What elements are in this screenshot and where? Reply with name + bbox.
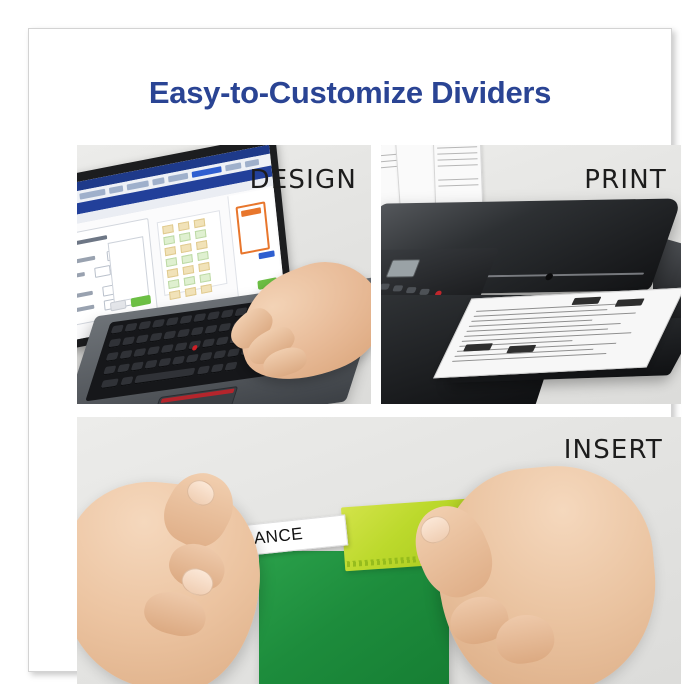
divider-grid-preview (157, 210, 228, 296)
page-title: Easy-to-Customize Dividers (29, 75, 671, 111)
panel-insert: FINANCE INSERT (77, 417, 681, 684)
dialog-cancel-button[interactable] (110, 299, 127, 311)
image-frame: Easy-to-Customize Dividers (28, 28, 672, 672)
panel-print: PRINT (381, 145, 681, 404)
selected-template-thumbnail[interactable] (235, 201, 270, 255)
printer-button[interactable] (406, 287, 417, 293)
printer-button[interactable] (381, 284, 390, 290)
panel-design: DESIGN (77, 145, 371, 404)
printer-lcd-display (386, 259, 421, 277)
printed-divider-sheet (433, 288, 681, 379)
divider-sheet-green (259, 551, 449, 684)
trackpoint-nub[interactable] (191, 345, 198, 351)
panel-label-insert: INSERT (564, 435, 663, 465)
panel-label-print: PRINT (584, 165, 667, 195)
dialog-title-placeholder (77, 235, 107, 247)
product-feature-image: Easy-to-Customize Dividers (0, 0, 700, 700)
panel-label-design: DESIGN (250, 165, 357, 195)
lid-release-button[interactable] (544, 273, 553, 280)
dialog-side-panel (108, 236, 150, 303)
printer-button[interactable] (392, 285, 403, 291)
panel-action-chip[interactable] (258, 250, 274, 259)
